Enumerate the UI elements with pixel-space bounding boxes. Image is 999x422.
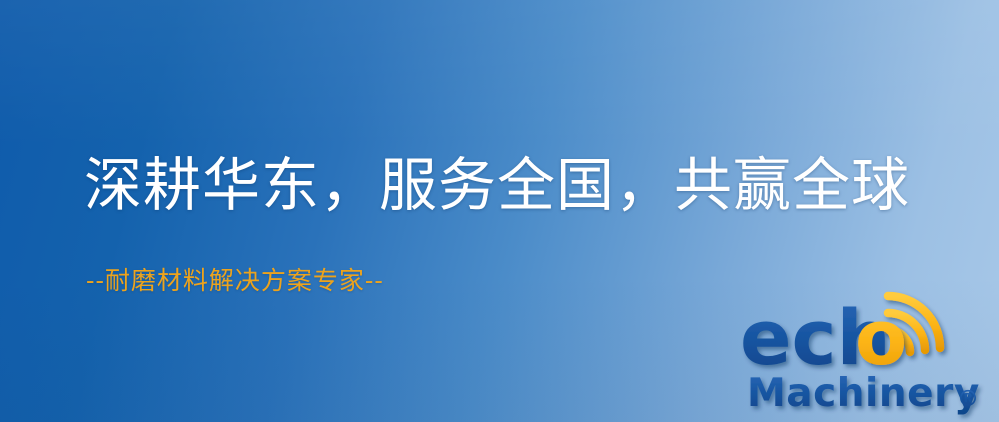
- logo-machinery-text: Machinery: [747, 371, 980, 416]
- banner-subtitle: --耐磨材料解决方案专家--: [86, 266, 384, 296]
- logo-trademark-symbol: ®: [957, 387, 979, 412]
- echo-machinery-logo[interactable]: ech o Machinery ®: [742, 298, 994, 416]
- banner-headline: 深耕华东，服务全国，共赢全球: [84, 152, 910, 219]
- promo-banner: 深耕华东，服务全国，共赢全球 --耐磨材料解决方案专家--: [0, 0, 999, 422]
- logo-o-letter: o: [855, 293, 907, 382]
